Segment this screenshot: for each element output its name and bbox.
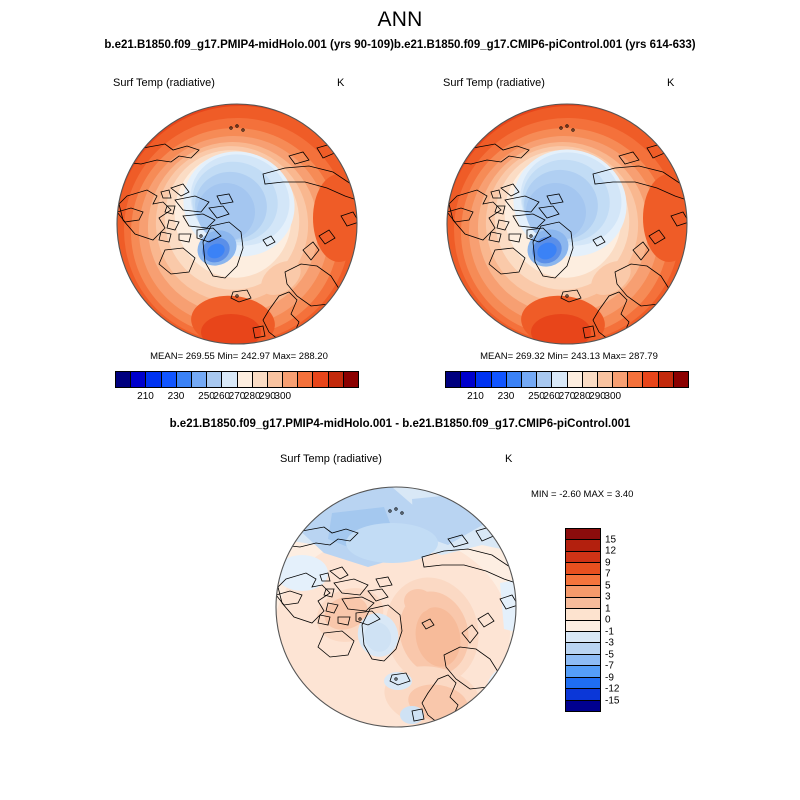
subtitle-right: b.e21.B1850.f09_g17.CMIP6-piControl.001 … (394, 39, 696, 51)
map-case1-svg (113, 100, 361, 348)
colorbar-tick-label: 210 (467, 391, 484, 402)
colorbar-swatch (116, 372, 131, 387)
colorbar-tick-label: 3 (605, 592, 611, 603)
colorbar-tick-label: 250 (198, 391, 215, 402)
colorbar-swatch (628, 372, 643, 387)
colorbar-swatch (268, 372, 283, 387)
colorbar-swatch (566, 598, 600, 609)
colorbar-tick-label: 12 (605, 546, 616, 557)
colorbar-swatch (566, 655, 600, 666)
colorbar-swatch (552, 372, 567, 387)
colorbar-swatch (566, 666, 600, 677)
colorbar-case2-swatches (445, 371, 689, 388)
map-difference-svg (272, 483, 520, 731)
colorbar-tick-label: 230 (498, 391, 515, 402)
map-case1 (113, 100, 361, 348)
colorbar-swatch (146, 372, 161, 387)
colorbar-swatch (522, 372, 537, 387)
colorbar-swatch (537, 372, 552, 387)
page-title: ANN (0, 8, 800, 32)
colorbar-tick-label: -15 (605, 695, 619, 706)
map-difference (272, 483, 520, 731)
subtitle-row: b.e21.B1850.f09_g17.PMIP4-midHolo.001 (y… (0, 39, 800, 51)
colorbar-swatch (298, 372, 313, 387)
panel-case2-variable-label: Surf Temp (radiative) (443, 77, 545, 89)
colorbar-swatch (568, 372, 583, 387)
colorbar-tick-label: 0 (605, 615, 611, 626)
colorbar-swatch (566, 643, 600, 654)
colorbar-tick-label: 290 (259, 391, 276, 402)
colorbar-swatch (566, 586, 600, 597)
colorbar-tick-label: 7 (605, 569, 611, 580)
panel-case2-stats: MEAN= 269.32 Min= 243.13 Max= 287.79 (445, 351, 693, 362)
colorbar-swatch (566, 540, 600, 551)
colorbar-tick-label: 230 (168, 391, 185, 402)
colorbar-swatch (566, 552, 600, 563)
colorbar-swatch (566, 689, 600, 700)
map-case2 (443, 100, 691, 348)
colorbar-swatch (476, 372, 491, 387)
colorbar-swatch (566, 678, 600, 689)
colorbar-swatch (192, 372, 207, 387)
colorbar-swatch (643, 372, 658, 387)
colorbar-swatch (583, 372, 598, 387)
colorbar-tick-label: 9 (605, 557, 611, 568)
colorbar-tick-label: -12 (605, 684, 619, 695)
colorbar-case1: 210230250260270280290300 (115, 371, 359, 405)
colorbar-swatch (659, 372, 674, 387)
colorbar-tick-label: -9 (605, 672, 614, 683)
colorbar-case1-labels: 210230250260270280290300 (115, 391, 359, 405)
colorbar-swatch (131, 372, 146, 387)
colorbar-swatch (344, 372, 358, 387)
colorbar-swatch (566, 529, 600, 540)
panel-difference-units: K (505, 453, 512, 465)
map-case1-fill (113, 100, 361, 348)
colorbar-swatch (313, 372, 328, 387)
colorbar-swatch (598, 372, 613, 387)
colorbar-tick-label: -7 (605, 661, 614, 672)
colorbar-tick-label: -1 (605, 626, 614, 637)
colorbar-swatch (329, 372, 344, 387)
subtitle-left: b.e21.B1850.f09_g17.PMIP4-midHolo.001 (y… (104, 39, 394, 51)
colorbar-tick-label: 15 (605, 534, 616, 545)
colorbar-swatch (492, 372, 507, 387)
colorbar-case2: 210230250260270280290300 (445, 371, 689, 405)
colorbar-tick-label: 1 (605, 603, 611, 614)
colorbar-swatch (566, 609, 600, 620)
colorbar-tick-label: 270 (229, 391, 246, 402)
colorbar-swatch (238, 372, 253, 387)
colorbar-swatch (566, 621, 600, 632)
colorbar-tick-label: 260 (213, 391, 230, 402)
colorbar-tick-label: 210 (137, 391, 154, 402)
colorbar-swatch (507, 372, 522, 387)
colorbar-swatch (674, 372, 688, 387)
panel-case1-units: K (337, 77, 344, 89)
colorbar-tick-label: 270 (559, 391, 576, 402)
colorbar-difference-swatches (565, 528, 601, 712)
colorbar-swatch (446, 372, 461, 387)
colorbar-case1-swatches (115, 371, 359, 388)
panel-case1-stats: MEAN= 269.55 Min= 242.97 Max= 288.20 (115, 351, 363, 362)
panel-case2-units: K (667, 77, 674, 89)
colorbar-swatch (222, 372, 237, 387)
colorbar-tick-label: -3 (605, 638, 614, 649)
colorbar-difference-labels: 1512975310-1-3-5-7-9-12-15 (605, 528, 645, 712)
colorbar-swatch (253, 372, 268, 387)
colorbar-tick-label: 5 (605, 580, 611, 591)
colorbar-swatch (566, 701, 600, 711)
colorbar-swatch (566, 632, 600, 643)
colorbar-tick-label: 290 (589, 391, 606, 402)
colorbar-case2-labels: 210230250260270280290300 (445, 391, 689, 405)
colorbar-swatch (461, 372, 476, 387)
panel-difference-variable-label: Surf Temp (radiative) (280, 453, 382, 465)
colorbar-tick-label: 280 (244, 391, 261, 402)
colorbar-tick-label: 300 (604, 391, 621, 402)
colorbar-tick-label: -5 (605, 649, 614, 660)
colorbar-swatch (283, 372, 298, 387)
difference-title: b.e21.B1850.f09_g17.PMIP4-midHolo.001 - … (0, 418, 800, 430)
colorbar-swatch (613, 372, 628, 387)
colorbar-tick-label: 260 (543, 391, 560, 402)
colorbar-tick-label: 280 (574, 391, 591, 402)
map-difference-fill (272, 483, 520, 731)
colorbar-tick-label: 250 (528, 391, 545, 402)
colorbar-swatch (566, 563, 600, 574)
colorbar-swatch (207, 372, 222, 387)
panel-difference-stats: MIN = -2.60 MAX = 3.40 (531, 489, 633, 500)
colorbar-tick-label: 300 (274, 391, 291, 402)
colorbar-swatch (177, 372, 192, 387)
map-case2-fill (443, 100, 691, 348)
map-case2-svg (443, 100, 691, 348)
colorbar-swatch (566, 575, 600, 586)
colorbar-difference: 1512975310-1-3-5-7-9-12-15 (565, 528, 601, 712)
colorbar-swatch (162, 372, 177, 387)
panel-case1-variable-label: Surf Temp (radiative) (113, 77, 215, 89)
